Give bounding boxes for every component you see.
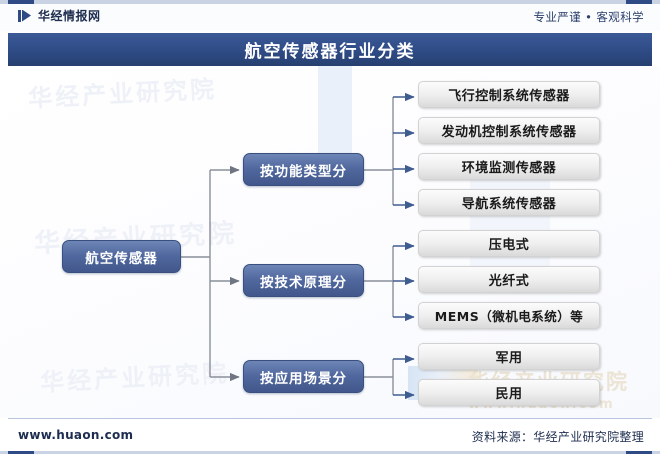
- node-leaf-label: 压电式: [489, 234, 530, 253]
- node-leaf-label: 光纤式: [489, 270, 530, 289]
- node-leaf[interactable]: 环境监测传感器: [418, 153, 600, 180]
- node-branch-label: 按应用场景分: [260, 367, 347, 387]
- node-leaf-label: 环境监测传感器: [462, 157, 557, 176]
- node-root-label: 航空传感器: [85, 247, 158, 267]
- node-leaf[interactable]: 导航系统传感器: [418, 189, 600, 216]
- node-leaf[interactable]: 飞行控制系统传感器: [418, 81, 600, 108]
- node-leaf[interactable]: 发动机控制系统传感器: [418, 117, 600, 144]
- page-title: 航空传感器行业分类: [245, 37, 416, 62]
- page-header: 华经情报网 专业严谨 • 客观科学: [0, 4, 660, 31]
- page-title-banner: 航空传感器行业分类: [8, 33, 652, 66]
- node-leaf[interactable]: 压电式: [418, 230, 600, 257]
- node-root[interactable]: 航空传感器: [62, 240, 181, 273]
- node-leaf-label: 军用: [495, 347, 522, 366]
- node-leaf[interactable]: MEMS（微机电系统）等: [418, 302, 600, 329]
- node-leaf[interactable]: 军用: [418, 343, 600, 370]
- node-leaf-label: 民用: [495, 383, 522, 402]
- node-leaf[interactable]: 民用: [418, 379, 600, 406]
- brand-label: 华经情报网: [38, 7, 101, 24]
- brand: 华经情报网: [18, 7, 101, 24]
- page-footer: www.huaon.com 资料来源：华经产业研究院整理: [0, 418, 660, 460]
- footer-bottom-rule: [0, 451, 660, 454]
- header-slogan: 专业严谨 • 客观科学: [534, 9, 645, 25]
- node-leaf-label: MEMS（微机电系统）等: [435, 306, 583, 325]
- node-leaf-label: 导航系统传感器: [462, 193, 557, 212]
- node-leaf-label: 发动机控制系统传感器: [441, 121, 576, 140]
- footer-divider: [8, 418, 652, 419]
- huaon-play-mark-icon: [18, 9, 32, 23]
- node-branch-label: 按功能类型分: [260, 160, 347, 180]
- footer-site-url[interactable]: www.huaon.com: [18, 428, 133, 442]
- node-leaf-label: 飞行控制系统传感器: [448, 85, 570, 104]
- node-branch-technology[interactable]: 按技术原理分: [243, 264, 364, 297]
- diagram-canvas: 华经产业研究院 华经产业研究院 华经产业研究院 华经产业研究院 www.huao…: [0, 66, 660, 418]
- footer-source: 资料来源：华经产业研究院整理: [472, 428, 644, 445]
- report-page: 华经情报网 专业严谨 • 客观科学 航空传感器行业分类 华经产业研究院 华经产业…: [0, 0, 660, 460]
- node-branch-application[interactable]: 按应用场景分: [243, 360, 364, 393]
- node-leaf[interactable]: 光纤式: [418, 266, 600, 293]
- node-branch-label: 按技术原理分: [260, 271, 347, 291]
- node-branch-function[interactable]: 按功能类型分: [243, 153, 364, 186]
